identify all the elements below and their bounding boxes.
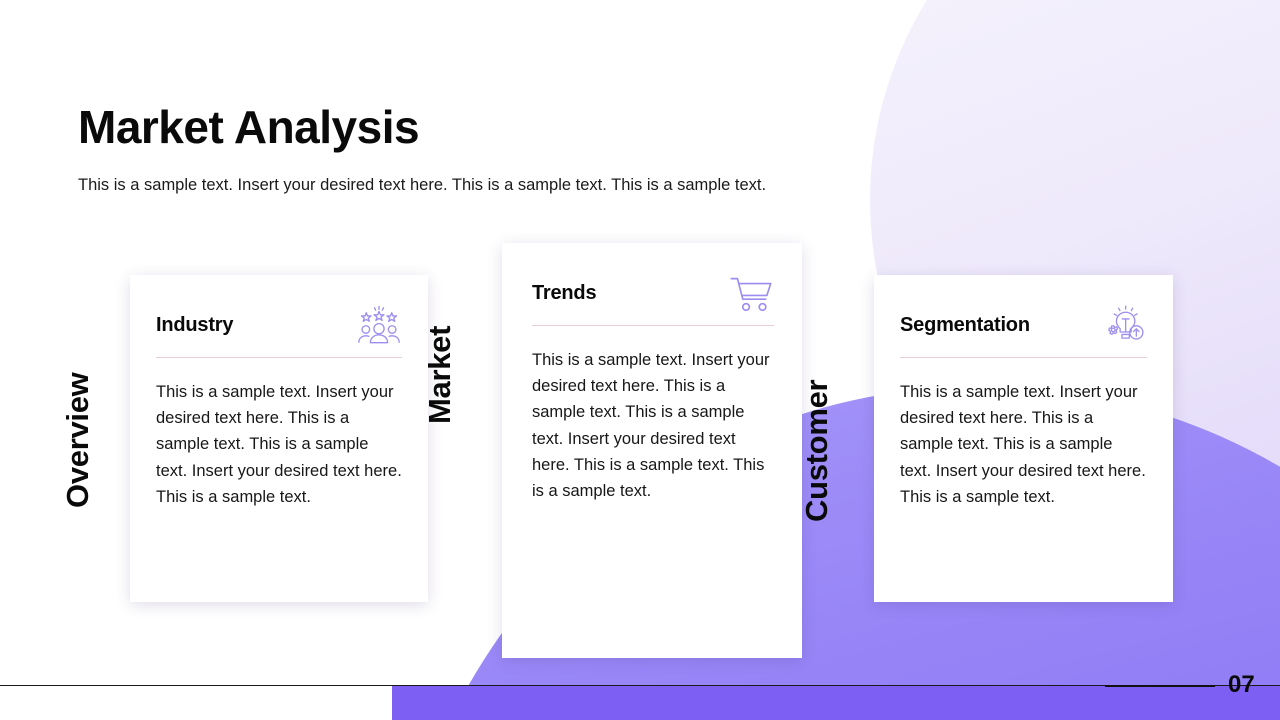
- lightbulb-gear-icon: [1101, 305, 1147, 345]
- baseline-rule: [0, 685, 1280, 686]
- card-title: Trends: [532, 282, 596, 305]
- card-trends[interactable]: Trends This is a sample text. Insert you…: [502, 243, 802, 658]
- page-number-rule: [1105, 685, 1215, 687]
- side-label-customer: Customer: [799, 380, 835, 522]
- card-body: This is a sample text. Insert your desir…: [156, 379, 402, 510]
- page-title: Market Analysis: [78, 100, 419, 154]
- page-number: 07: [1228, 671, 1255, 699]
- card-title: Segmentation: [900, 314, 1030, 337]
- people-stars-icon: [356, 305, 402, 345]
- card-industry[interactable]: Industry This is a sam: [130, 275, 428, 602]
- card-title: Industry: [156, 314, 233, 337]
- page-subtitle: This is a sample text. Insert your desir…: [78, 176, 766, 195]
- card-header: Trends: [532, 271, 774, 315]
- card-divider: [156, 357, 402, 358]
- card-divider: [532, 325, 774, 326]
- background-purple-band: [392, 686, 1280, 720]
- side-label-overview: Overview: [60, 373, 96, 508]
- card-header: Industry: [156, 303, 402, 347]
- card-header: Segmentation: [900, 303, 1147, 347]
- card-segmentation[interactable]: Segmentation: [874, 275, 1173, 602]
- card-body: This is a sample text. Insert your desir…: [900, 379, 1147, 510]
- slide-canvas: Market Analysis This is a sample text. I…: [0, 0, 1280, 720]
- card-divider: [900, 357, 1147, 358]
- side-label-market: Market: [422, 326, 458, 424]
- card-body: This is a sample text. Insert your desir…: [532, 347, 774, 504]
- shopping-cart-icon: [728, 273, 774, 313]
